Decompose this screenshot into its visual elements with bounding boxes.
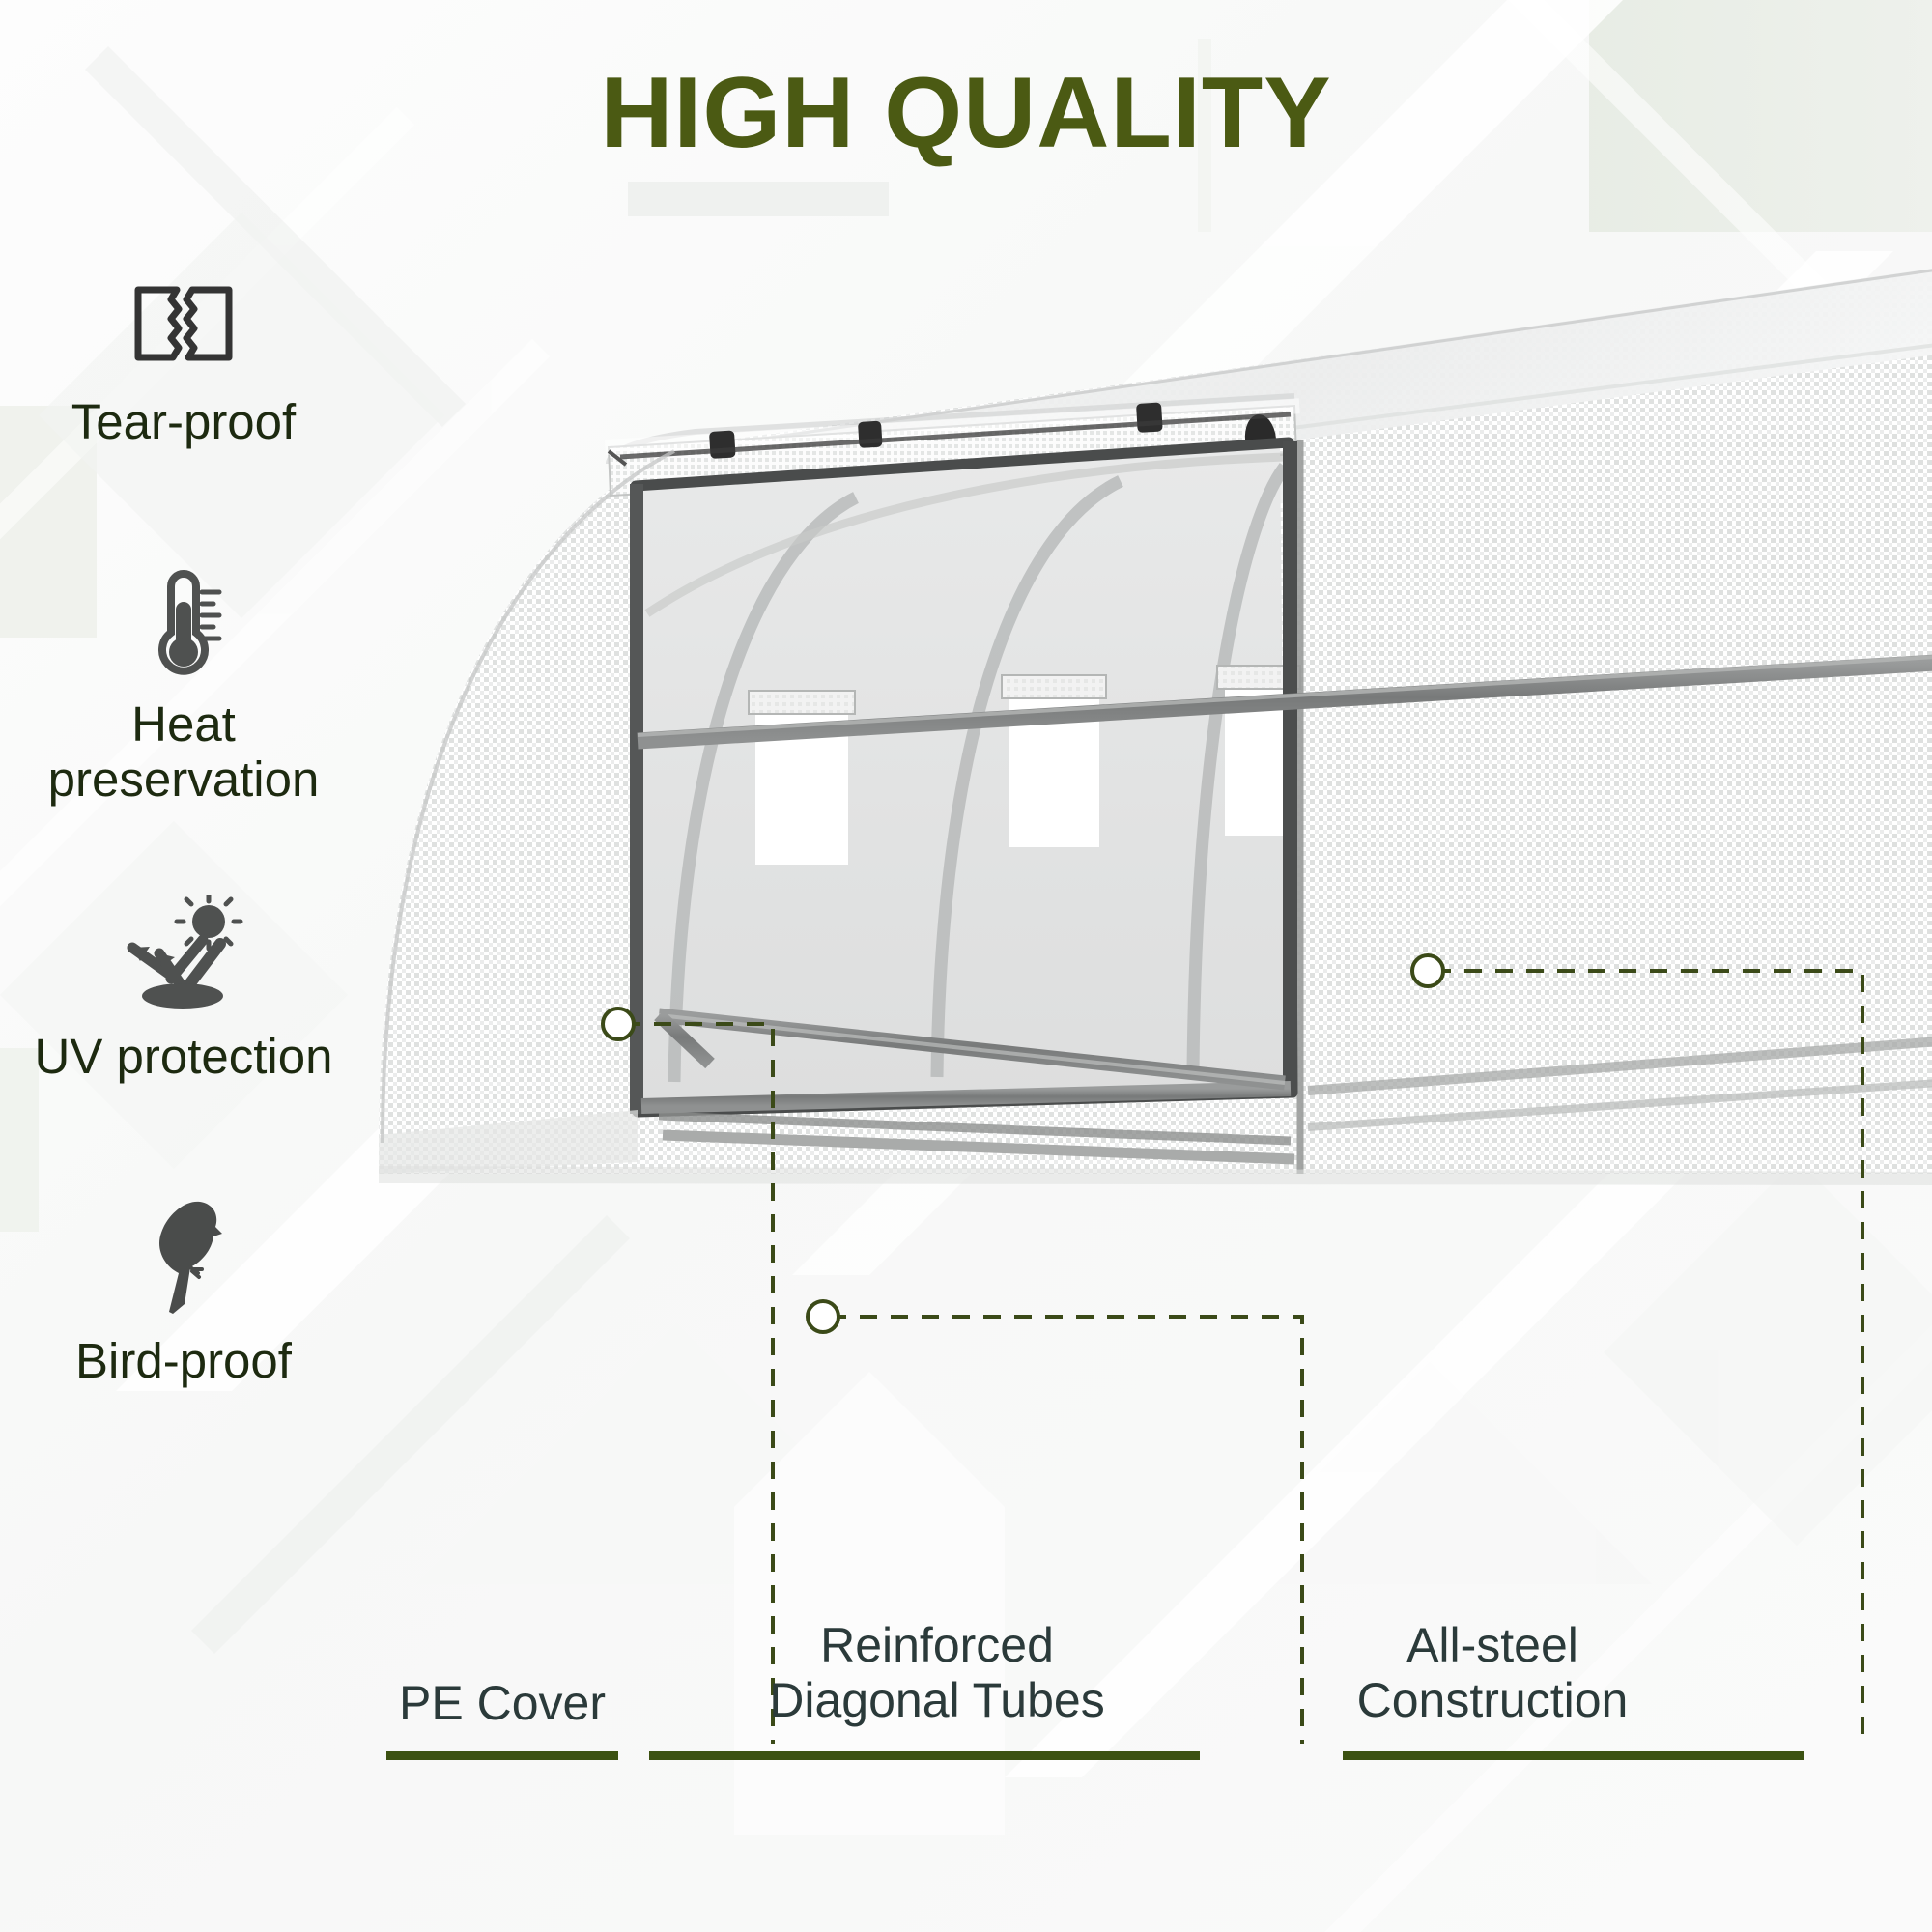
thermometer-icon xyxy=(130,563,237,679)
feature-label: Bird-proof xyxy=(75,1333,292,1388)
feature-label: UV protection xyxy=(35,1029,333,1084)
feature-item-tear-proof: Tear-proof xyxy=(0,261,367,449)
page-title: HIGH QUALITY xyxy=(0,56,1932,171)
feature-label: Heat preservation xyxy=(48,696,320,807)
callout-label-all-steel: All-steel Construction xyxy=(1207,1618,1777,1728)
bird-icon xyxy=(130,1200,237,1316)
feature-item-uv-protection: UV protection xyxy=(0,895,367,1084)
callout-underline-all-steel xyxy=(1343,1751,1804,1760)
feature-label: Tear-proof xyxy=(71,394,296,449)
feature-list: Tear-proof Heat preservation xyxy=(0,261,367,1389)
uv-protection-icon xyxy=(111,895,256,1011)
feature-item-bird-proof: Bird-proof xyxy=(0,1200,367,1388)
feature-item-heat-preservation: Heat preservation xyxy=(0,563,367,807)
callout-label-diagonal-tubes: Reinforced Diagonal Tubes xyxy=(638,1618,1236,1728)
tear-proof-icon xyxy=(130,261,237,377)
callout-underline-diagonal-tubes xyxy=(649,1751,1200,1760)
product-image-greenhouse xyxy=(319,208,1932,1579)
door-panel xyxy=(638,447,1300,1106)
callout-label-pe-cover: PE Cover xyxy=(357,1676,647,1731)
callout-underline-pe-cover xyxy=(386,1751,618,1760)
